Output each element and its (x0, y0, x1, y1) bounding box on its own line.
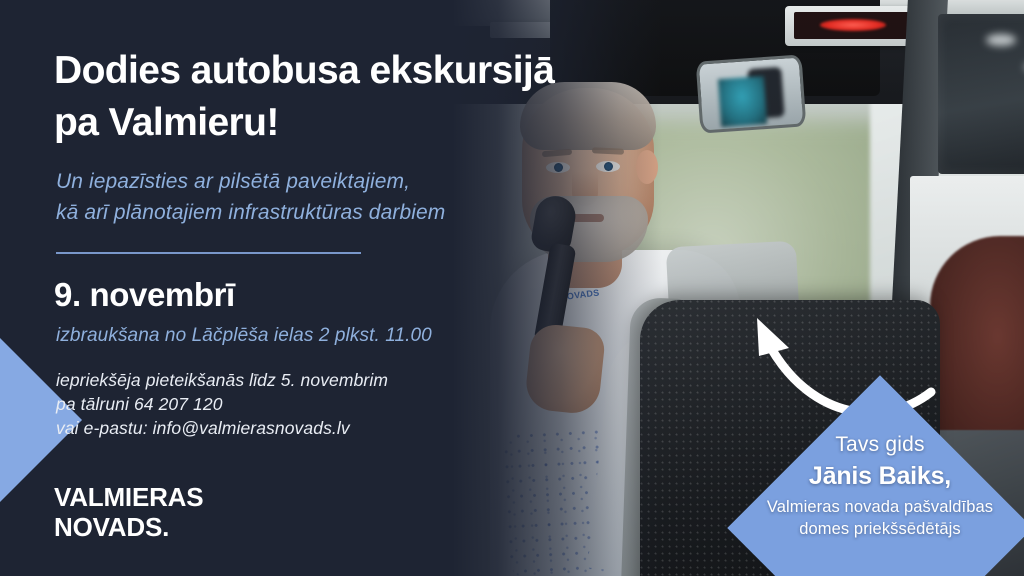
rearview-mirror (696, 54, 807, 133)
subtitle: Un iepazīsties ar pilsētā paveiktajiem, … (56, 166, 616, 228)
divider-rule (56, 252, 361, 254)
mirror-reflection-person (718, 76, 767, 127)
badge-guide-role: Valmieras novada pašvaldības domes priek… (690, 496, 1024, 540)
event-date: 9. novembrī (54, 276, 235, 314)
guide-badge-text: Tavs gids Jānis Baiks, Valmieras novada … (690, 432, 1024, 540)
departure-info: izbraukšana no Lāčplēša ielas 2 plkst. 1… (56, 325, 432, 347)
promo-poster: VALMIERAS NOVADS Dodies autobusa ekskurs… (0, 0, 1024, 576)
sign-led-glow (820, 19, 886, 31)
valmieras-novads-logo: VALMIERAS NOVADS. (54, 482, 203, 542)
contact-info: iepriekšēja pieteikšanās līdz 5. novembr… (56, 368, 576, 440)
badge-guide-name: Jānis Baiks, (690, 460, 1024, 492)
destination-sign-screen (794, 12, 916, 39)
window-glare-a (986, 34, 1016, 46)
page-title: Dodies autobusa ekskursijā pa Valmieru! (54, 45, 654, 149)
badge-lead-label: Tavs gids (690, 432, 1024, 458)
